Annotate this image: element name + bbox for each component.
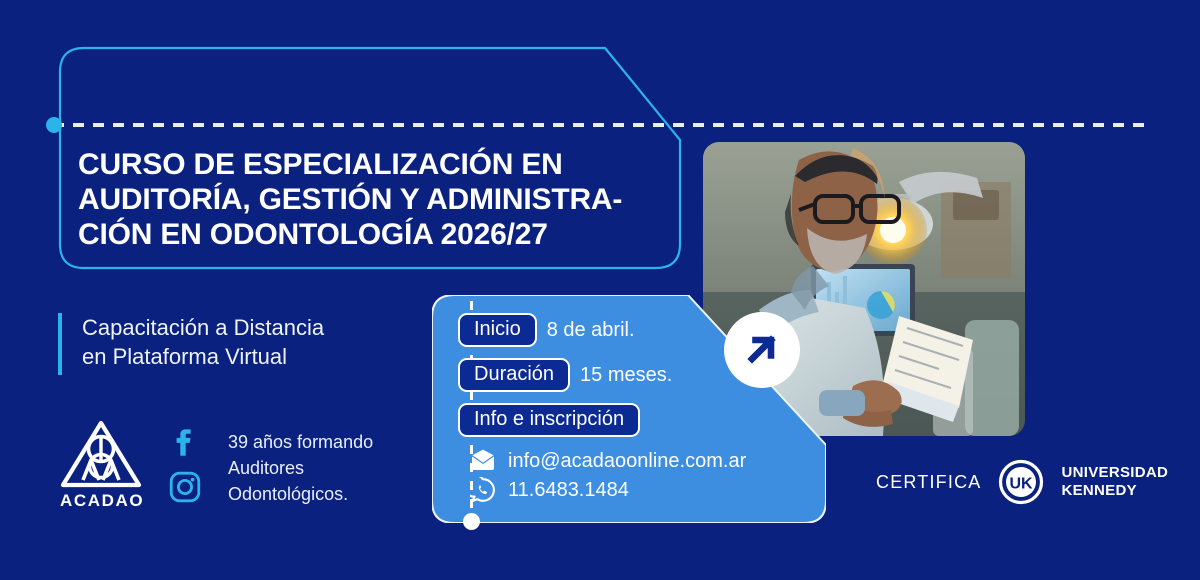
subtitle-line-1: Capacitación a Distancia bbox=[82, 313, 324, 342]
header-dashed-rule bbox=[53, 123, 1145, 127]
title-line-3: CIÓN EN ODONTOLOGÍA 2026/27 bbox=[78, 218, 678, 253]
social-links bbox=[168, 420, 202, 504]
university-line-2: KENNEDY bbox=[1061, 482, 1168, 500]
value-inicio: 8 de abril. bbox=[547, 319, 635, 342]
tagline-line-3: Odontológicos. bbox=[228, 482, 373, 508]
email-text: info@acadaoonline.com.ar bbox=[508, 450, 746, 473]
subtitle-line-2: en Plataforma Virtual bbox=[82, 342, 324, 371]
acadao-logo: ACADAO bbox=[60, 420, 142, 511]
subtitle-text: Capacitación a Distancia en Plataforma V… bbox=[82, 313, 324, 375]
page-title: CURSO DE ESPECIALIZACIÓN EN AUDITORÍA, G… bbox=[78, 148, 678, 252]
title-line-2: AUDITORÍA, GESTIÓN Y ADMINISTRA- bbox=[78, 183, 678, 218]
subtitle-block: Capacitación a Distancia en Plataforma V… bbox=[58, 313, 324, 375]
instagram-icon[interactable] bbox=[168, 470, 202, 504]
label-inicio: Inicio bbox=[458, 313, 537, 347]
tagline-line-1: 39 años formando bbox=[228, 430, 373, 456]
certification-block: CERTIFICA UK UNIVERSIDAD KENNEDY bbox=[876, 458, 1168, 506]
arrow-up-right-icon[interactable] bbox=[724, 312, 800, 388]
whatsapp-icon bbox=[470, 477, 496, 503]
promo-banner: CURSO DE ESPECIALIZACIÓN EN AUDITORÍA, G… bbox=[0, 0, 1200, 580]
label-info-inscripcion: Info e inscripción bbox=[458, 403, 640, 437]
value-duracion: 15 meses. bbox=[580, 364, 672, 387]
brand-tagline: 39 años formando Auditores Odontológicos… bbox=[228, 420, 373, 508]
svg-text:UK: UK bbox=[1010, 476, 1034, 493]
tagline-line-2: Auditores bbox=[228, 456, 373, 482]
contact-whatsapp[interactable]: 11.6483.1484 bbox=[470, 477, 818, 503]
uk-logo-icon: UK bbox=[997, 458, 1045, 506]
acadao-wordmark: ACADAO bbox=[60, 491, 142, 511]
university-line-1: UNIVERSIDAD bbox=[1061, 464, 1168, 482]
subtitle-accent-bar bbox=[58, 313, 62, 375]
header-rule-dot bbox=[46, 117, 62, 133]
certifica-label: CERTIFICA bbox=[876, 472, 981, 493]
card-end-dot bbox=[463, 513, 480, 530]
info-row-inscripcion: Info e inscripción bbox=[458, 403, 818, 437]
brand-row: ACADAO 39 años formando Auditores Odonto… bbox=[60, 420, 373, 511]
university-name: UNIVERSIDAD KENNEDY bbox=[1061, 464, 1168, 501]
whatsapp-text: 11.6483.1484 bbox=[508, 479, 629, 502]
title-line-1: CURSO DE ESPECIALIZACIÓN EN bbox=[78, 148, 678, 183]
envelope-icon bbox=[470, 448, 496, 474]
contact-email[interactable]: info@acadaoonline.com.ar bbox=[470, 448, 818, 474]
label-duracion: Duración bbox=[458, 358, 570, 392]
facebook-icon[interactable] bbox=[168, 424, 202, 458]
